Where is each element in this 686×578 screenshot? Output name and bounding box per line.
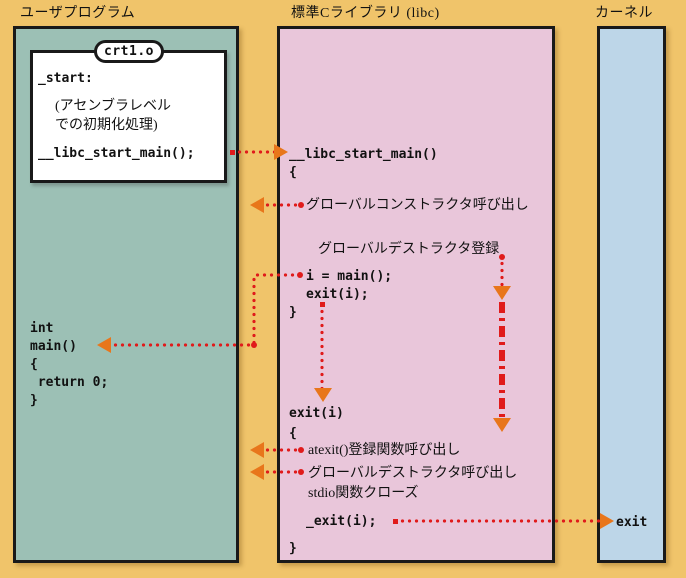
- arrowhead-right-libc-start-main: [274, 144, 288, 160]
- arrow-start-dot-4: [297, 272, 303, 278]
- column-title-user-program: ユーザプログラム: [20, 2, 135, 22]
- exit-invocation-code: exit(i);: [306, 286, 369, 304]
- exit-function-signature: exit(i): [289, 405, 344, 423]
- libc-start-main-open-brace: {: [289, 164, 297, 182]
- panel-kernel: [597, 26, 666, 563]
- arrow-start-dot-7: [298, 469, 304, 475]
- arrow-start-dot-6: [298, 447, 304, 453]
- arrow-line-global-dtor-register-upper: [500, 260, 504, 288]
- global-destructor-call-text: グローバルデストラクタ呼び出し: [308, 464, 517, 484]
- atexit-registered-call-text: atexit()登録関数呼び出し: [308, 441, 460, 461]
- diagram-canvas: ユーザプログラム 標準Cライブラリ (libc) カーネル crt1.o _st…: [0, 0, 686, 578]
- arrow-line-main-call-vertical: [252, 276, 256, 346]
- arrow-line-kernel-exit: [399, 519, 603, 523]
- exit-function-close-brace: }: [289, 540, 297, 558]
- arrow-line-main-call-top: [254, 273, 299, 277]
- arrow-line-global-dtor-register-lower: [499, 302, 505, 418]
- column-title-libc: 標準Cライブラリ (libc): [291, 2, 440, 22]
- crt1-label-pill: crt1.o: [94, 40, 164, 63]
- user-main-function-code: int main() { return 0; }: [30, 320, 108, 410]
- arrow-line-global-dtor-call: [264, 470, 300, 474]
- arrow-start-dot-5: [320, 302, 325, 307]
- arrow-line-main-call-bottom: [112, 343, 254, 347]
- arrowhead-left-global-ctor: [250, 197, 264, 213]
- exit-function-open-brace: {: [289, 425, 297, 443]
- arrowhead-right-kernel-exit: [600, 513, 614, 529]
- arrowhead-down-global-dtor-register-2: [493, 418, 511, 432]
- kernel-exit-label: exit: [616, 514, 647, 532]
- start-symbol-label: _start:: [38, 70, 93, 88]
- main-invocation-code: i = main();: [306, 268, 392, 286]
- libc-start-main-close-brace: }: [289, 304, 297, 322]
- global-constructor-call-text: グローバルコンストラクタ呼び出し: [306, 196, 529, 216]
- column-title-kernel: カーネル: [595, 2, 653, 22]
- arrow-line-call-libc-start-main: [236, 150, 276, 154]
- arrow-start-dot-3: [499, 254, 505, 260]
- arrow-corner-dot-4: [251, 342, 257, 348]
- arrow-line-global-ctor: [264, 203, 300, 207]
- arrowhead-left-global-dtor-call: [250, 464, 264, 480]
- arrowhead-down-global-dtor-register-1: [493, 286, 511, 300]
- arrowhead-down-exit-definition: [314, 388, 332, 402]
- arrowhead-left-atexit: [250, 442, 264, 458]
- libc-start-main-signature: __libc_start_main(): [289, 146, 438, 164]
- libc-start-main-call: __libc_start_main();: [38, 145, 195, 163]
- arrow-start-dot-1: [230, 150, 235, 155]
- arrow-line-atexit: [264, 448, 300, 452]
- stdio-close-text: stdio関数クローズ: [308, 484, 419, 504]
- arrowhead-left-user-main: [97, 337, 111, 353]
- asm-comment-line1: (アセンブラレベル: [55, 96, 171, 117]
- arrow-start-dot-8: [393, 519, 398, 524]
- global-destructor-register-text: グローバルデストラクタ登録: [318, 240, 499, 260]
- arrow-line-exit-jump: [320, 308, 324, 388]
- underscore-exit-call: _exit(i);: [306, 513, 376, 531]
- arrow-start-dot-2: [298, 202, 304, 208]
- asm-comment-line2: での初期化処理): [55, 115, 158, 136]
